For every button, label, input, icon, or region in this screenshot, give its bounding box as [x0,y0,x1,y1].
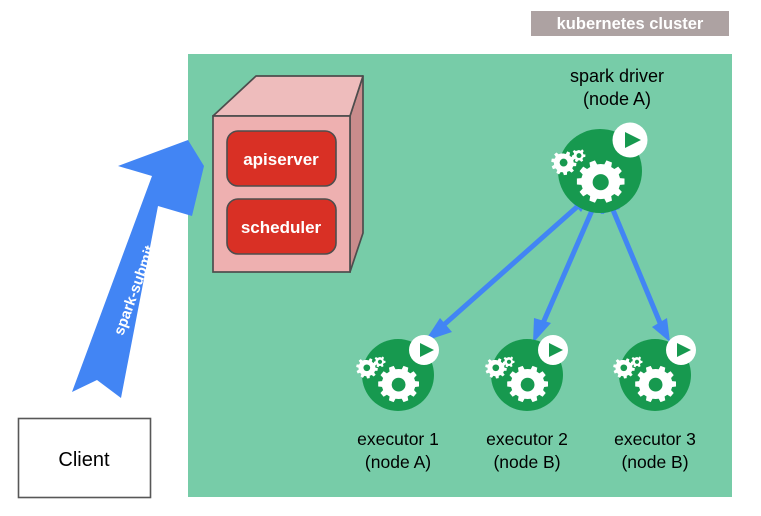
diagram-canvas: kubernetes cluster Client spark-submit a… [0,0,761,516]
executor-2-play-badge [538,335,568,365]
driver-play-badge [613,123,648,158]
apiserver-label: apiserver [243,150,319,169]
executor-3-play-badge [666,335,696,365]
control-plane-cube [213,76,363,272]
executor-2-label-line2: (node B) [493,452,560,472]
executor-1-label-line1: executor 1 [357,429,439,449]
executor-1-play-badge [409,335,439,365]
executor-3-label-line2: (node B) [621,452,688,472]
client-label: Client [58,449,110,471]
executor-1-label-line2: (node A) [365,452,431,472]
executor-2-label-line1: executor 2 [486,429,568,449]
kubernetes-cluster-badge-label: kubernetes cluster [557,15,704,33]
scheduler-label: scheduler [241,218,322,237]
executor-3-label-line1: executor 3 [614,429,696,449]
spark-driver-label-line1: spark driver [570,66,664,86]
spark-driver-label-line2: (node A) [583,89,651,109]
diagram-svg: kubernetes cluster Client spark-submit a… [0,0,761,516]
